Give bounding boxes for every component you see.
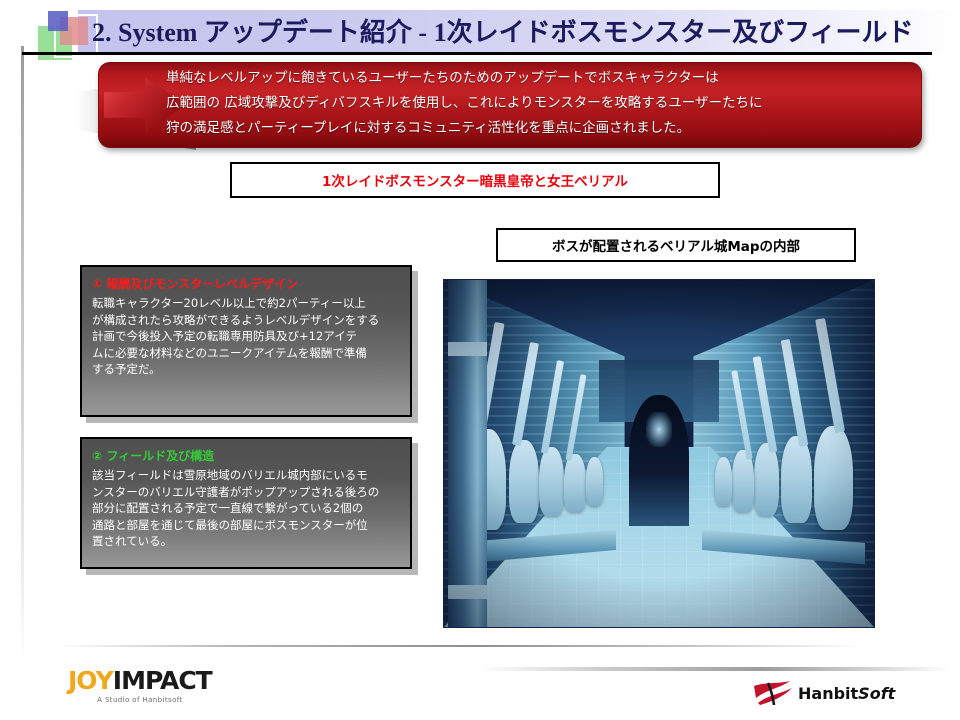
banner-line-3: 狩の満足感とパーティープレイに対するコミュニティ活性化を重点に企画されました。 — [166, 116, 906, 141]
field-line-1: 該当フィールドは雪原地域のバリエル城内部にいるモ — [92, 467, 400, 484]
content-box-field: ② フィールド及び構造 該当フィールドは雪原地域のバリエル城内部にいるモ ンスタ… — [80, 437, 412, 569]
field-line-5: 置されている。 — [92, 533, 400, 550]
field-line-3: 部分に配置される予定で一直線で繋がっている2個の — [92, 500, 400, 517]
content-box-reward-body: 転職キャラクター20レベル以上で約2パーティー以上 が構成されたら攻略ができるよ… — [92, 295, 400, 378]
page-title: 2. System アップデート紹介 - 1次レイドボスモンスター及びフィールド — [92, 14, 954, 54]
label-boss-monster: 1次レイドボスモンスター暗黒皇帝と女王ベリアル — [230, 162, 720, 198]
field-line-2: ンスターのバリエル守護者がポップアップされる後ろの — [92, 484, 400, 501]
joyimpact-tagline: A Studio of Hanbitsoft — [68, 696, 212, 704]
scene-vignette — [444, 280, 874, 627]
decor-square-blue — [48, 11, 68, 31]
game-screenshot-scene — [444, 280, 874, 627]
summary-banner-text: 単純なレベルアップに飽きているユーザーたちのためのアップデートでボスキャラクター… — [166, 66, 906, 142]
soft-text: Soft — [858, 684, 895, 703]
joyimpact-impact-text: IMPACT — [113, 666, 212, 695]
joyimpact-joy-text: JOY — [68, 666, 113, 695]
reward-line-3: 計画で今後投入予定の転職専用防具及び+12アイテ — [92, 328, 400, 345]
left-vertical-rule — [21, 46, 24, 661]
hanbit-text: Hanbit — [798, 684, 858, 703]
hanbitsoft-wordmark: HanbitSoft — [798, 685, 895, 702]
reward-line-2: が構成されたら攻略ができるようレベルデザインをする — [92, 312, 400, 329]
banner-line-1: 単純なレベルアップに飽きているユーザーたちのためのアップデートでボスキャラクター… — [166, 66, 906, 91]
label-map-interior: ボスが配置されるベリアル城Mapの内部 — [496, 228, 856, 262]
content-box-field-heading: ② フィールド及び構造 — [92, 447, 400, 464]
joyimpact-logo: JOYIMPACT A Studio of Hanbitsoft — [68, 668, 212, 704]
hanbitsoft-logo: HanbitSoft — [752, 680, 895, 706]
reward-line-1: 転職キャラクター20レベル以上で約2パーティー以上 — [92, 295, 400, 312]
content-box-reward: ① 報酬及びモンスターレベルデザイン 転職キャラクター20レベル以上で約2パーテ… — [80, 265, 412, 417]
footer-rule-top — [55, 645, 865, 647]
reward-line-5: する予定だ。 — [92, 361, 400, 378]
content-box-field-body: 該当フィールドは雪原地域のバリエル城内部にいるモ ンスターのバリエル守護者がポッ… — [92, 467, 400, 550]
footer-rule-right — [480, 667, 950, 671]
field-line-4: 通路と部屋を通じて最後の部屋にボスモンスターが位 — [92, 517, 400, 534]
game-screenshot — [443, 279, 875, 628]
title-underline — [22, 52, 932, 55]
reward-line-4: ムに必要な材料などのユニークアイテムを報酬で準備 — [92, 345, 400, 362]
slide-canvas: 2. System アップデート紹介 - 1次レイドボスモンスター及びフィールド… — [0, 0, 960, 720]
hanbitsoft-swoosh-icon — [752, 680, 794, 706]
banner-line-2: 広範囲の 広域攻撃及びディバフスキルを使用し、これによりモンスターを攻略するユー… — [166, 91, 906, 116]
content-box-reward-heading: ① 報酬及びモンスターレベルデザイン — [92, 275, 400, 292]
joyimpact-wordmark: JOYIMPACT — [68, 668, 212, 694]
